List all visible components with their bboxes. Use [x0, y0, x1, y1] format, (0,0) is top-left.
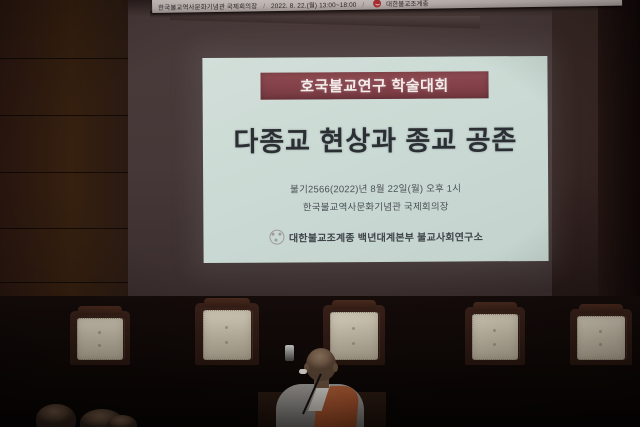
wood-panel-left — [0, 0, 128, 330]
slide-host-line: 대한불교조계종 백년대계본부 불교사회연구소 — [203, 228, 548, 245]
conference-hall-photo: 한국불교역사문화기념관 국제회의장 / 2022. 8. 22.(월) 13:0… — [0, 0, 640, 427]
top-banner-venue: 한국불교역사문화기념관 국제회의장 — [158, 3, 257, 12]
panel-chair-5 — [570, 309, 632, 365]
handheld-microphone-icon — [302, 370, 332, 414]
panel-chair-1 — [70, 311, 130, 365]
top-banner-separator-2: / — [358, 1, 368, 8]
projected-slide: 호국불교연구 학술대회 다종교 현상과 종교 공존 불기2566(2022)년 … — [202, 56, 548, 263]
top-banner-schedule: 2022. 8. 22.(월) 13:00~18:00 — [271, 1, 357, 9]
slide-title: 다종교 현상과 종교 공존 — [203, 118, 548, 159]
slide-host-name: 대한불교조계종 백년대계본부 불교사회연구소 — [289, 228, 483, 244]
slide-event-banner: 호국불교연구 학술대회 — [260, 71, 488, 99]
audience-head — [36, 404, 76, 427]
top-banner-separator: / — [259, 3, 269, 10]
monk-speaker — [272, 348, 368, 427]
jogye-order-circle-icon — [373, 0, 381, 7]
top-banner-org: 대한불교조계종 — [386, 0, 429, 8]
wood-panel-right — [598, 0, 640, 330]
slide-venue: 한국불교역사문화기념관 국제회의장 — [203, 198, 548, 214]
jogye-order-three-circle-icon — [269, 230, 284, 245]
panel-chair-2 — [195, 303, 259, 365]
panel-chair-4 — [465, 307, 525, 365]
slide-banner-label: 호국불교연구 학술대회 — [300, 75, 449, 97]
slide-datetime: 불기2566(2022)년 8월 22일(월) 오후 1시 — [203, 180, 548, 196]
